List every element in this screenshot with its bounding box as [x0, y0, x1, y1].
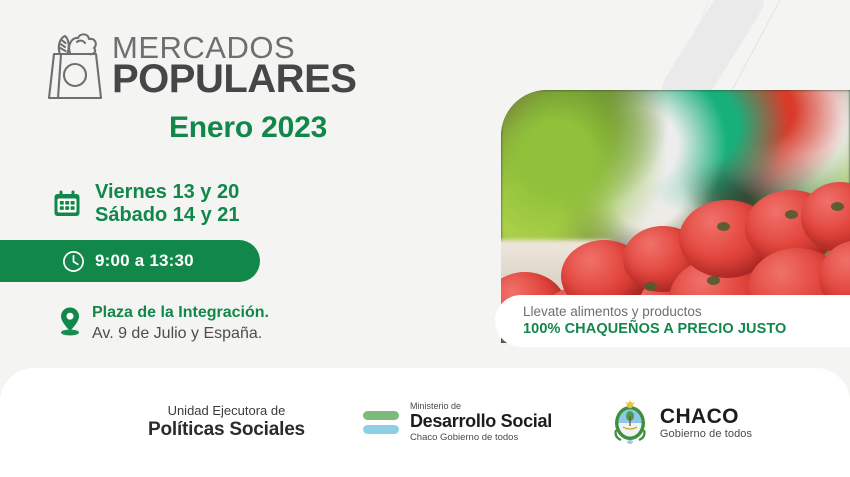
tomato-stem	[644, 282, 657, 291]
chaco-line-2: Gobierno de todos	[660, 428, 752, 440]
unidad-ejecutora-logo: Unidad Ejecutora de Políticas Sociales	[148, 404, 305, 441]
tomato-stem	[785, 210, 798, 219]
location-name: Plaza de la Integración.	[92, 303, 269, 322]
footer-logos-bar: Unidad Ejecutora de Políticas Sociales M…	[0, 368, 850, 477]
brand-logo: MERCADOS POPULARES	[44, 24, 356, 102]
dates-text: Viernes 13 y 20 Sábado 14 y 21	[95, 181, 240, 227]
chaco-government-logo: CHACO Gobierno de todos	[610, 400, 752, 446]
chaco-coat-of-arms-icon	[610, 400, 650, 446]
uep-line-2: Políticas Sociales	[148, 419, 305, 441]
tomato-stem	[707, 276, 720, 285]
calendar-icon	[52, 189, 82, 219]
ministerio-line-3: Chaco Gobierno de todos	[410, 433, 552, 443]
brand-wordmark: MERCADOS POPULARES	[112, 24, 356, 97]
clock-icon	[62, 250, 85, 273]
location-text: Plaza de la Integración. Av. 9 de Julio …	[92, 303, 269, 343]
bar-green	[363, 411, 399, 420]
event-month: Enero 2023	[169, 111, 327, 145]
tomato-stem	[717, 222, 730, 231]
two-bars-icon	[363, 411, 399, 434]
tomato-stem	[831, 202, 844, 211]
shopping-bag-with-vegetables-icon	[44, 30, 106, 102]
date-line-2: Sábado 14 y 21	[95, 204, 240, 227]
time-text: 9:00 a 13:30	[95, 251, 194, 271]
uep-line-1: Unidad Ejecutora de	[168, 404, 286, 419]
ministerio-text: Ministerio de Desarrollo Social Chaco Go…	[410, 402, 552, 443]
caption-line-2: 100% CHAQUEÑOS A PRECIO JUSTO	[523, 320, 850, 338]
location-row: Plaza de la Integración. Av. 9 de Julio …	[56, 303, 269, 343]
ministerio-line-2: Desarrollo Social	[410, 412, 552, 432]
dates-row: Viernes 13 y 20 Sábado 14 y 21	[52, 181, 240, 227]
poster-canvas: MERCADOS POPULARES Enero 2023	[0, 0, 850, 477]
photo-caption: Llevate alimentos y productos 100% CHAQU…	[495, 295, 850, 347]
time-banner: 9:00 a 13:30	[0, 240, 260, 282]
brand-name-populares: POPULARES	[112, 61, 356, 98]
bar-blue	[363, 425, 399, 434]
ministerio-desarrollo-social-logo: Ministerio de Desarrollo Social Chaco Go…	[363, 402, 552, 443]
caption-line-1: Llevate alimentos y productos	[523, 304, 850, 321]
chaco-line-1: CHACO	[660, 405, 752, 428]
location-address: Av. 9 de Julio y España.	[92, 324, 269, 343]
date-line-1: Viernes 13 y 20	[95, 181, 240, 204]
map-pin-icon	[56, 305, 84, 337]
chaco-text: CHACO Gobierno de todos	[660, 405, 752, 440]
